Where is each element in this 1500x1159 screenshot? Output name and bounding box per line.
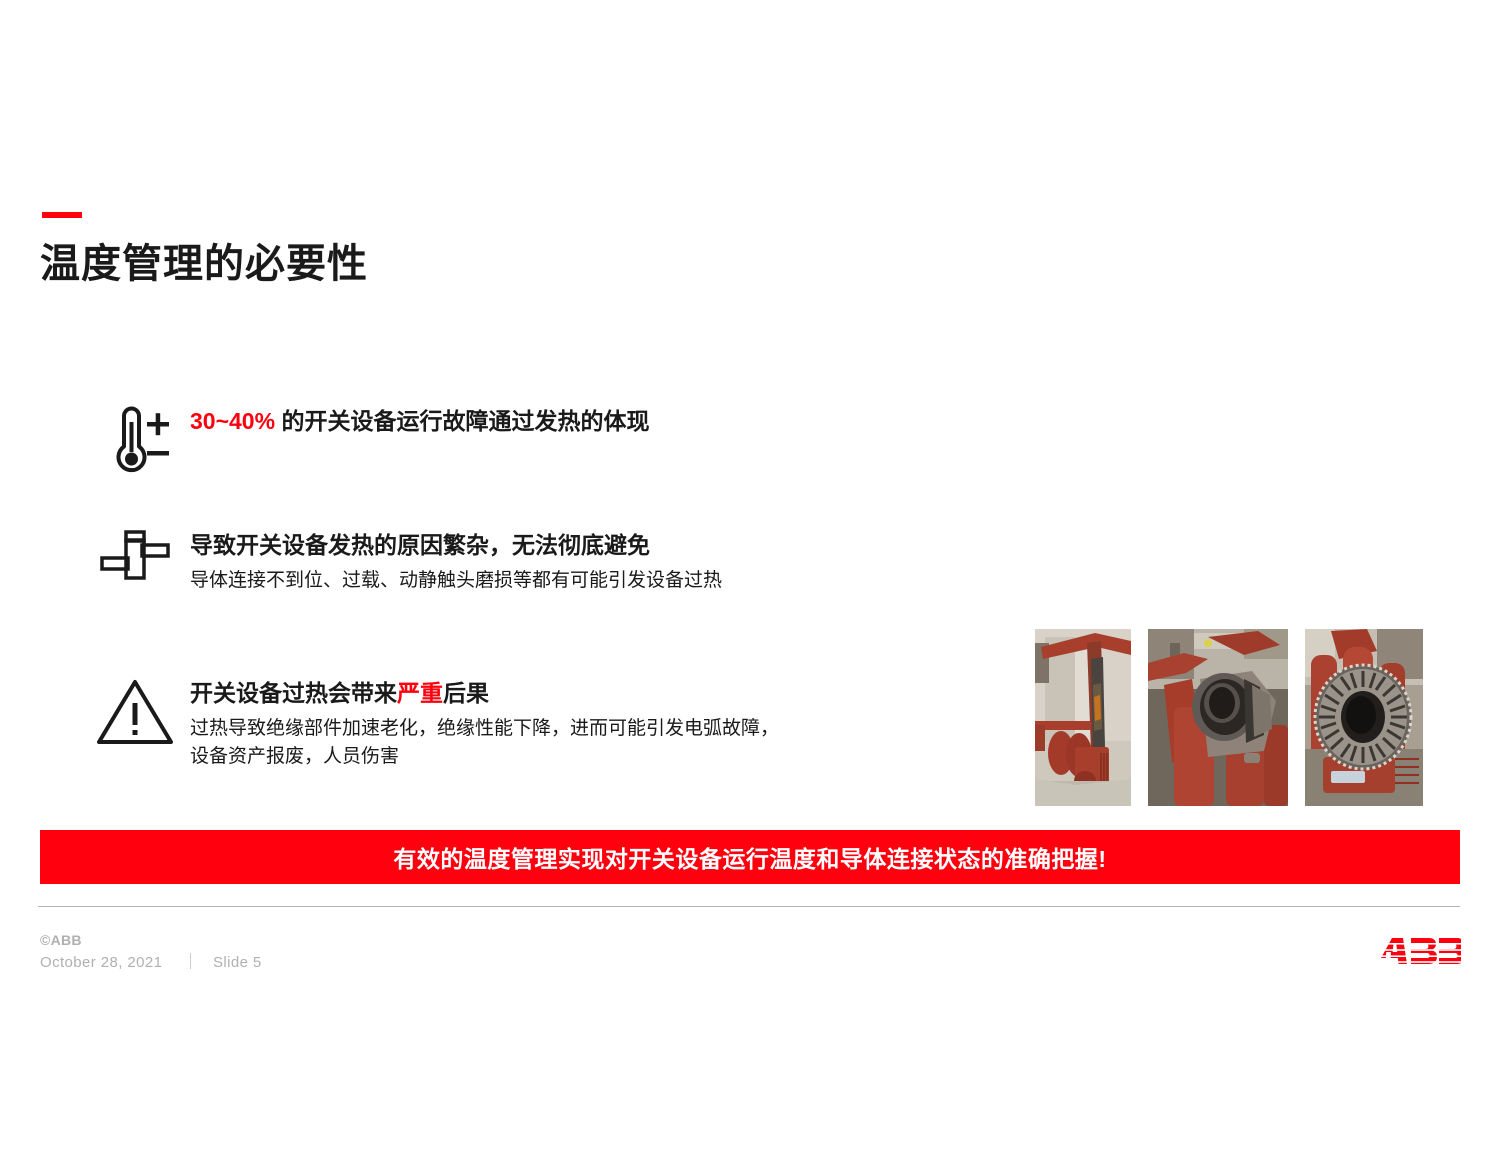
key-message-banner: 有效的温度管理实现对开关设备运行温度和导体连接状态的准确把握! [40, 830, 1460, 884]
photo-burnt-busbar-connection [1035, 629, 1131, 806]
page-title: 温度管理的必要性 [40, 240, 368, 288]
bullet-subtitle-3-line2: 设备资产报废，人员伤害 [190, 743, 980, 771]
banner-text: 有效的温度管理实现对开关设备运行温度和导体连接状态的准确把握! [393, 840, 1106, 874]
bullet-text-2: 导致开关设备发热的原因繁杂，无法彻底避免 导体连接不到位、过载、动静触头磨损等都… [190, 528, 980, 595]
thermometer-plus-minus-icon [80, 404, 190, 476]
footer-copyright: ©ABB [40, 930, 262, 951]
bullet-heading-3-rest: 后果 [443, 680, 489, 706]
photo-damaged-contact-tube [1148, 629, 1288, 806]
photo-worn-contact-fingers [1305, 629, 1423, 806]
title-accent-bar [42, 212, 82, 218]
bullet-heading-1-highlight: 30~40% [190, 408, 275, 434]
bullet-text-3: 开关设备过热会带来严重后果 过热导致绝缘部件加速老化，绝缘性能下降，进而可能引发… [190, 676, 980, 770]
bullet-row-3: 开关设备过热会带来严重后果 过热导致绝缘部件加速老化，绝缘性能下降，进而可能引发… [80, 676, 980, 770]
bullet-heading-1-rest: 的开关设备运行故障通过发热的体现 [275, 408, 649, 434]
pipe-valve-icon [80, 528, 190, 584]
footer-left: ©ABB October 28, 2021 Slide 5 [40, 930, 262, 975]
slide-canvas: 温度管理的必要性 30~40% 的开关设备运行故障通过发热的体现 [0, 0, 1500, 1159]
bullet-heading-3-highlight: 严重 [397, 680, 443, 706]
footer-slide-number: Slide 5 [213, 952, 262, 975]
bullet-subtitle-3: 过热导致绝缘部件加速老化，绝缘性能下降，进而可能引发电弧故障，设备资产报废，人员… [190, 715, 980, 770]
bullet-subtitle-2: 导体连接不到位、过载、动静触头磨损等都有可能引发设备过热 [190, 567, 980, 595]
footer-meta: October 28, 2021 Slide 5 [40, 951, 262, 975]
bullet-text-1: 30~40% 的开关设备运行故障通过发热的体现 [190, 404, 980, 437]
bullet-heading-3-prefix: 开关设备过热会带来 [190, 680, 397, 706]
bullet-subtitle-3-line1: 过热导致绝缘部件加速老化，绝缘性能下降，进而可能引发电弧故障， [190, 718, 779, 739]
footer-separator [190, 953, 191, 969]
bullet-row-2: 导致开关设备发热的原因繁杂，无法彻底避免 导体连接不到位、过载、动静触头磨损等都… [80, 528, 980, 595]
abb-logo [1381, 938, 1461, 964]
footer-date: October 28, 2021 [40, 952, 190, 975]
bullet-row-1: 30~40% 的开关设备运行故障通过发热的体现 [80, 404, 980, 476]
bullet-heading-2: 导致开关设备发热的原因繁杂，无法彻底避免 [190, 530, 980, 561]
photo-strip [1035, 629, 1460, 806]
footer-divider-line [38, 906, 1460, 907]
warning-triangle-icon [80, 676, 190, 750]
bullet-heading-1: 30~40% 的开关设备运行故障通过发热的体现 [190, 406, 980, 437]
bullet-heading-3: 开关设备过热会带来严重后果 [190, 678, 980, 709]
